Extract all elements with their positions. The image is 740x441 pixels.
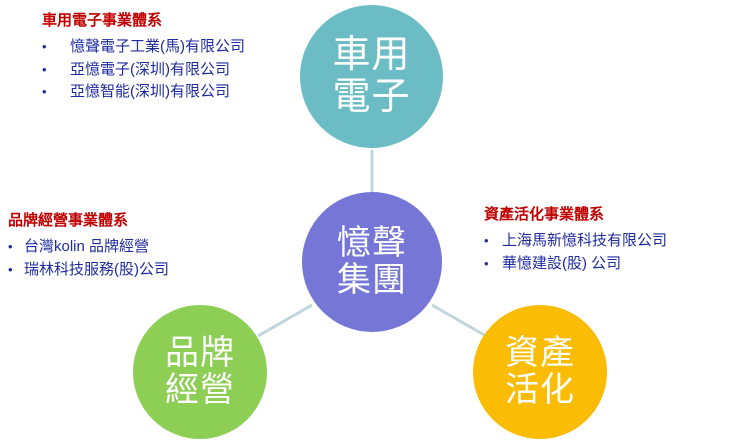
text-block-automotive: 車用電子事業體系 • 憶聲電子工業(馬)有限公司 • 亞憶電子(深圳)有限公司 …	[42, 12, 245, 104]
node-brand-management[interactable]: 品牌 經營	[133, 305, 267, 439]
node-asset-line2: 活化	[505, 372, 575, 409]
list-item: • 上海馬新憶科技有限公司	[484, 230, 667, 253]
list-item: • 台灣kolin 品牌經營	[8, 236, 169, 259]
node-brand-line2: 經營	[165, 372, 235, 409]
node-asset-revitalization[interactable]: 資產 活化	[473, 305, 607, 439]
list-automotive: • 憶聲電子工業(馬)有限公司 • 亞憶電子(深圳)有限公司 • 亞憶智能(深圳…	[42, 36, 245, 104]
connector-hub-to-brand	[258, 305, 312, 336]
bullet-icon: •	[42, 37, 70, 57]
list-asset: • 上海馬新憶科技有限公司 • 華憶建設(股) 公司	[484, 230, 667, 276]
bullet-icon: •	[484, 254, 502, 274]
heading-asset: 資產活化事業體系	[484, 206, 667, 225]
list-item-label: 憶聲電子工業(馬)有限公司	[70, 36, 245, 59]
node-hub-group[interactable]: 憶聲 集團	[302, 192, 442, 332]
node-brand-line1: 品牌	[165, 335, 235, 372]
text-block-brand: 品牌經營事業體系 • 台灣kolin 品牌經營 • 瑞林科技服務(股)公司	[8, 212, 169, 281]
node-automotive-line1: 車用	[332, 35, 410, 76]
node-asset-line1: 資產	[505, 335, 575, 372]
node-hub-line2: 集團	[337, 262, 407, 299]
list-item-label: 上海馬新憶科技有限公司	[502, 230, 667, 253]
slide-canvas: 車用 電子 憶聲 集團 品牌 經營 資產 活化 車用電子事業體系 • 憶聲電子工…	[0, 0, 740, 441]
list-item: • 憶聲電子工業(馬)有限公司	[42, 36, 245, 59]
bullet-icon: •	[8, 237, 24, 257]
bullet-icon: •	[42, 82, 70, 102]
bullet-icon: •	[42, 60, 70, 80]
list-item-label: 瑞林科技服務(股)公司	[24, 259, 169, 282]
list-item: • 亞憶智能(深圳)有限公司	[42, 81, 245, 104]
text-block-asset: 資產活化事業體系 • 上海馬新憶科技有限公司 • 華憶建設(股) 公司	[484, 206, 667, 275]
list-item: • 瑞林科技服務(股)公司	[8, 259, 169, 282]
list-item-label: 亞憶智能(深圳)有限公司	[70, 81, 230, 104]
list-item-label: 亞憶電子(深圳)有限公司	[70, 59, 230, 82]
heading-brand: 品牌經營事業體系	[8, 212, 169, 231]
node-automotive-electronics[interactable]: 車用 電子	[300, 5, 443, 148]
bullet-icon: •	[484, 231, 502, 251]
node-hub-line1: 憶聲	[337, 225, 407, 262]
connector-hub-to-asset	[432, 305, 486, 336]
list-item: • 華憶建設(股) 公司	[484, 253, 667, 276]
heading-automotive: 車用電子事業體系	[42, 12, 245, 31]
list-item-label: 台灣kolin 品牌經營	[24, 236, 149, 259]
bullet-icon: •	[8, 260, 24, 280]
node-automotive-line2: 電子	[332, 77, 410, 118]
list-item-label: 華憶建設(股) 公司	[502, 253, 621, 276]
list-brand: • 台灣kolin 品牌經營 • 瑞林科技服務(股)公司	[8, 236, 169, 282]
list-item: • 亞憶電子(深圳)有限公司	[42, 59, 245, 82]
